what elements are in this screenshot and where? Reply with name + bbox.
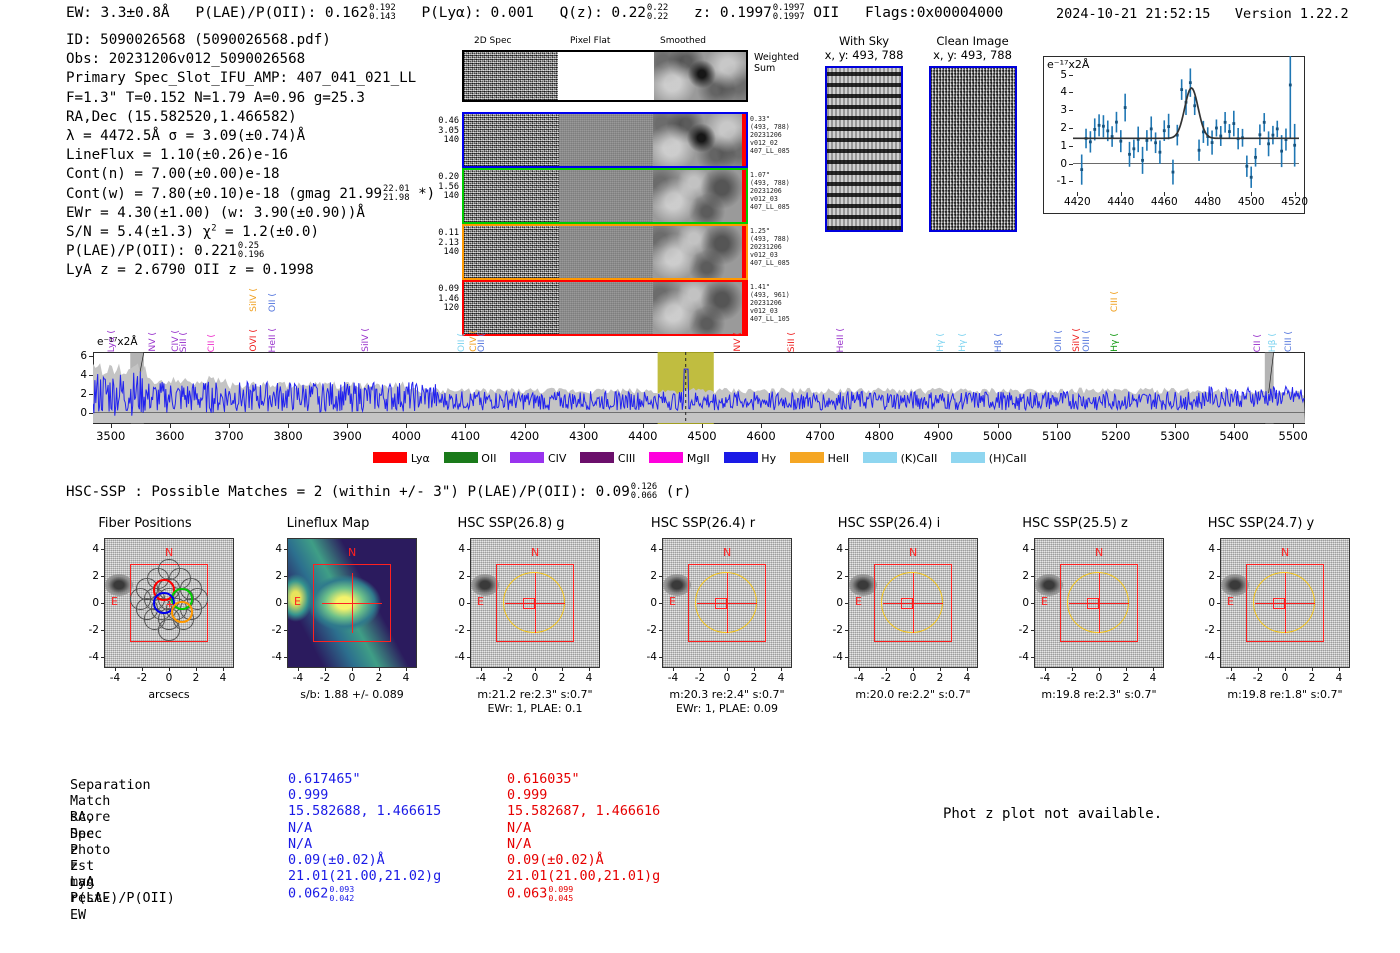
header-plae-label: P(LAE)/P(OII): xyxy=(195,5,316,21)
cutout-ytick: 0 xyxy=(263,597,282,609)
match-table-value-primary: 0.09(±0.02)Å xyxy=(288,853,385,869)
emplot-ytick: 2 xyxy=(1047,122,1067,134)
cutout-xtick: -4 xyxy=(293,672,303,684)
cutout-xtick: 4 xyxy=(220,672,227,684)
cutout-ytick: 0 xyxy=(1196,597,1215,609)
cutout-ytick: 2 xyxy=(1010,570,1029,582)
north-label: N xyxy=(348,546,356,559)
spectrum-xtick: 4500 xyxy=(687,429,716,443)
emplot-xtick: 4480 xyxy=(1194,196,1221,208)
cutout-caption-primary: m:21.2 re:2.3" s:0.7" xyxy=(440,688,630,702)
row-2dspec-image xyxy=(464,114,559,166)
row-smoothed-image xyxy=(653,114,746,166)
legend-swatch xyxy=(510,452,544,463)
weighted-sum-pixelflat-image xyxy=(558,52,654,100)
spec2d-row-left-labels: 0.46 3.05 140 xyxy=(438,117,459,146)
cutout-xtick: 4 xyxy=(964,672,971,684)
info-plae-pre: P(LAE)/P(OII): 0.221 xyxy=(66,243,237,259)
cutout-xtick: 4 xyxy=(403,672,410,684)
cutout-xtick: 2 xyxy=(559,672,566,684)
legend-swatch xyxy=(580,452,614,463)
cutout-ytick: -4 xyxy=(824,651,843,663)
cutout-ytick: -4 xyxy=(80,651,99,663)
emission-line-label: Hβ ( xyxy=(993,333,1004,352)
emission-line-label: SiII ( xyxy=(786,332,797,352)
timestamp: 2024-10-21 21:52:15 xyxy=(1056,6,1210,22)
legend-swatch xyxy=(863,452,897,463)
east-label: E xyxy=(855,595,862,608)
with-sky-image xyxy=(825,66,903,232)
cutout-xtick: -2 xyxy=(695,672,705,684)
spectrum-ytick: 2 xyxy=(69,388,87,400)
cutout-xtick: 0 xyxy=(349,672,356,684)
legend-item: Hy xyxy=(724,452,776,465)
cutout-ytick: 0 xyxy=(638,597,657,609)
emplot-ytick: 4 xyxy=(1047,86,1067,98)
spectrum-ytick: 0 xyxy=(69,407,87,419)
cutout-xtick: 0 xyxy=(724,672,731,684)
spectrum-xtick: 3900 xyxy=(333,429,362,443)
info-seeing-params: F=1.3" T=0.152 N=1.79 A=0.96 g=25.3 xyxy=(66,89,435,108)
legend-item: MgII xyxy=(649,452,709,465)
match-table-value-secondary: 0.0630.0990.045 xyxy=(507,885,573,903)
info-cont-n: Cont(n) = 7.00(±0.00)e-18 xyxy=(66,165,435,184)
cutout-caption-primary: m:19.8 re:1.8" s:0.7" xyxy=(1190,688,1380,702)
legend-swatch xyxy=(790,452,824,463)
north-label: N xyxy=(1095,546,1103,559)
match-table-value-secondary: 0.616035" xyxy=(507,772,580,788)
cutout-title: HSC SSP(26.4) i xyxy=(804,516,974,531)
match-table-value-secondary: N/A xyxy=(507,821,531,837)
emission-line-label: OII ( xyxy=(456,333,467,352)
crosshair-horizontal xyxy=(883,603,943,604)
cutout-xtick: 2 xyxy=(937,672,944,684)
cutout-ytick: -4 xyxy=(1196,651,1215,663)
cutout-xtick: 2 xyxy=(1309,672,1316,684)
clean-image-cutout xyxy=(929,66,1017,232)
cutout-xtick: 0 xyxy=(910,672,917,684)
row-2dspec-image xyxy=(464,226,559,278)
emplot-ytick: 3 xyxy=(1047,104,1067,116)
emission-line-label: OIII ( xyxy=(1081,330,1092,352)
header-timestamp-version: 2024-10-21 21:52:15 Version 1.22.2 xyxy=(1056,6,1349,22)
emission-line-label: Hγ ( xyxy=(935,333,946,352)
cutout-ytick: -4 xyxy=(446,651,465,663)
emission-line-label: Hβ ( xyxy=(1267,333,1278,352)
cutout-ytick: 0 xyxy=(824,597,843,609)
crosshair-horizontal xyxy=(1255,603,1315,604)
match-table-value-secondary: 21.01(21.00,21.01)g xyxy=(507,869,660,885)
legend-label: (H)CaII xyxy=(985,452,1026,465)
spec2d-row-meta: 1.25" (493, 788) 20231206 v012_03 407_LL… xyxy=(750,227,790,267)
emplot-xtick: 4440 xyxy=(1107,196,1134,208)
legend-label: (K)CaII xyxy=(897,452,937,465)
spectrum-xtick: 4400 xyxy=(628,429,657,443)
spectrum-xtick: 3600 xyxy=(155,429,184,443)
legend-label: CIII xyxy=(614,452,635,465)
cutout-ytick: -2 xyxy=(446,624,465,636)
cutout-ytick: 4 xyxy=(1010,543,1029,555)
cutout-ytick: -2 xyxy=(1010,624,1029,636)
cutout-caption-primary: s/b: 1.88 +/- 0.089 xyxy=(257,688,447,702)
header-flags: Flags:0x00004000 xyxy=(865,5,1003,21)
crosshair-horizontal xyxy=(322,603,382,604)
emplot-ytick: -1 xyxy=(1047,175,1067,187)
info-plae-lo: 0.196 xyxy=(238,250,264,260)
cutout-ytick: -4 xyxy=(638,651,657,663)
spectrum-xtick: 4000 xyxy=(392,429,421,443)
info-id: ID: 5090026568 (5090026568.pdf) xyxy=(66,31,435,50)
legend-item: OII xyxy=(444,452,497,465)
cutout-caption-primary: arcsecs xyxy=(74,688,264,702)
east-label: E xyxy=(1041,595,1048,608)
legend-swatch xyxy=(649,452,683,463)
spec2d-col-header-pixelflat: Pixel Flat xyxy=(570,36,610,46)
info-cont-w-pre: Cont(w) = 7.80(±0.10)e-18 (gmag 21.99 xyxy=(66,186,382,202)
cutout-xtick: 2 xyxy=(376,672,383,684)
cutout-xtick: -2 xyxy=(1067,672,1077,684)
legend-item: (K)CaII xyxy=(863,452,937,465)
emission-line-label: HeII ( xyxy=(267,328,278,353)
spectrum-canvas xyxy=(93,352,1305,424)
emission-line-label: Hγ ( xyxy=(957,333,968,352)
cutout-xtick: -2 xyxy=(503,672,513,684)
spec2d-row-left-labels: 0.20 1.56 140 xyxy=(438,173,459,202)
cutout-ytick: 2 xyxy=(1196,570,1215,582)
spectrum-xtick: 3500 xyxy=(96,429,125,443)
cutout-xtick: 0 xyxy=(1282,672,1289,684)
north-label: N xyxy=(723,546,731,559)
cutout-xtick: 4 xyxy=(1150,672,1157,684)
cutout-title: Fiber Positions xyxy=(60,516,230,531)
cutout-xtick: -4 xyxy=(668,672,678,684)
row-pixelflat-image xyxy=(559,170,654,222)
hsc-ssp-summary: HSC-SSP : Possible Matches = 2 (within +… xyxy=(66,483,691,501)
header-summary-line: EW: 3.3±0.8Å P(LAE)/P(OII): 0.1620.1920.… xyxy=(66,4,1003,22)
cutout-xtick: 2 xyxy=(1123,672,1130,684)
crosshair-horizontal xyxy=(1069,603,1129,604)
emission-line-label: CII ( xyxy=(206,334,217,352)
spectrum-xtick: 4900 xyxy=(924,429,953,443)
spec2d-row-meta: 0.33" (493, 788) 20231206 v012_02 407_LL… xyxy=(750,115,790,155)
detection-info-block: ID: 5090026568 (5090026568.pdf) Obs: 202… xyxy=(66,31,435,281)
emission-line-label: NV ( xyxy=(147,332,158,352)
legend-swatch xyxy=(724,452,758,463)
hsc-plae-lo: 0.066 xyxy=(631,491,657,501)
legend-swatch xyxy=(373,452,407,463)
spec2d-fiber-row: 0.20 1.56 140 1.07" (493, 788) 20231206 … xyxy=(462,168,748,224)
cutout-xtick: 0 xyxy=(1096,672,1103,684)
cutout-ytick: -4 xyxy=(1010,651,1029,663)
cutout-caption-primary: m:20.0 re:2.2" s:0.7" xyxy=(818,688,1008,702)
emplot-ytick: 0 xyxy=(1047,158,1067,170)
cutout-ytick: 2 xyxy=(638,570,657,582)
spectrum-xtick: 5000 xyxy=(983,429,1012,443)
legend-label: MgII xyxy=(683,452,709,465)
info-ewr: EWr = 4.30(±1.00) (w: 3.90(±0.90))Å xyxy=(66,204,435,223)
target-position-marker: + xyxy=(166,597,173,611)
spec2d-col-header-2dspec: 2D Spec xyxy=(474,36,511,46)
spec2d-weighted-sum-label: Weighted Sum xyxy=(754,52,799,74)
spectrum-unit-label: e⁻¹⁷x2Å xyxy=(97,336,138,348)
info-radec: RA,Dec (15.582520,1.466582) xyxy=(66,108,435,127)
cutout-ytick: -2 xyxy=(1196,624,1215,636)
cutout-ytick: 0 xyxy=(1010,597,1029,609)
emplot-xtick: 4420 xyxy=(1064,196,1091,208)
match-table-label: mag xyxy=(70,875,94,891)
row-smoothed-image xyxy=(653,170,746,222)
crosshair-horizontal xyxy=(505,603,565,604)
cutout-ytick: -2 xyxy=(80,624,99,636)
match-table-label: Separation xyxy=(70,778,151,794)
info-wavelength-sigma: λ = 4472.5Å σ = 3.09(±0.74)Å xyxy=(66,127,435,146)
emission-line-label: OIII ( xyxy=(1053,330,1064,352)
cutout-xtick: 2 xyxy=(751,672,758,684)
cutout-ytick: -2 xyxy=(824,624,843,636)
spectrum-xtick: 5200 xyxy=(1101,429,1130,443)
cutout-caption-primary: m:19.8 re:2.3" s:0.7" xyxy=(1004,688,1194,702)
row-smoothed-image xyxy=(653,226,746,278)
with-sky-panel: With Sky x, y: 493, 788 xyxy=(816,34,912,232)
info-sn-chi2: S/N = 5.4(±1.3) χ2 = 1.2(±0.0) xyxy=(66,223,435,242)
info-sn-pre: S/N = 5.4(±1.3) χ xyxy=(66,224,211,240)
cutout-xtick: 0 xyxy=(166,672,173,684)
info-plae: P(LAE)/P(OII): 0.2210.250.196 xyxy=(66,242,435,261)
legend-label: Hy xyxy=(758,452,776,465)
cutout-title: HSC SSP(25.5) z xyxy=(990,516,1160,531)
spectrum-xtick: 4600 xyxy=(746,429,775,443)
spectrum-xtick: 4700 xyxy=(806,429,835,443)
info-cont-w-post: *) xyxy=(418,186,435,202)
cutout-xtick: -2 xyxy=(137,672,147,684)
cutout-xtick: -4 xyxy=(110,672,120,684)
legend-item: CIII xyxy=(580,452,635,465)
spectrum-xtick: 3700 xyxy=(214,429,243,443)
header-z-lo: 0.1997 xyxy=(773,12,805,22)
row-pixelflat-image xyxy=(559,226,654,278)
header-plae-lo: 0.143 xyxy=(369,12,396,22)
cutout-xtick: -2 xyxy=(1253,672,1263,684)
header-qz: Q(z): 0.22 xyxy=(560,5,646,21)
emplot-xtick: 4500 xyxy=(1238,196,1265,208)
cutout-ytick: 4 xyxy=(1196,543,1215,555)
weighted-sum-2dspec-image xyxy=(464,52,558,100)
row-pixelflat-image xyxy=(559,114,654,166)
cutout-xtick: -4 xyxy=(854,672,864,684)
cutout-xtick: 4 xyxy=(586,672,593,684)
with-sky-coords: x, y: 493, 788 xyxy=(816,48,912,62)
cutout-title: HSC SSP(26.8) g xyxy=(426,516,596,531)
spectrum-legend: Lyα OII CIV CIII MgII Hy HeII (K)CaII (H… xyxy=(0,452,1400,465)
spectrum-ytick: 4 xyxy=(69,369,87,381)
spectrum-xtick: 5300 xyxy=(1160,429,1189,443)
cutout-xtick: -2 xyxy=(320,672,330,684)
cutout-title: HSC SSP(24.7) y xyxy=(1176,516,1346,531)
cutout-xtick: -2 xyxy=(881,672,891,684)
emplot-ytick: 5 xyxy=(1047,69,1067,81)
emission-line-label: Hγ ( xyxy=(1109,333,1120,352)
match-table-value-primary: 21.01(21.00,21.02)g xyxy=(288,869,441,885)
hsc-suffix: (r) xyxy=(666,484,692,500)
spec2d-row-left-labels: 0.11 2.13 140 xyxy=(438,229,459,258)
cutout-ytick: 4 xyxy=(638,543,657,555)
emplot-xtick: 4460 xyxy=(1151,196,1178,208)
full-spectrum-plot: e⁻¹⁷x2Å 0246 xyxy=(93,352,1305,424)
cutout-xtick: -4 xyxy=(476,672,486,684)
cutout-ytick: 4 xyxy=(80,543,99,555)
cutout-xtick: 4 xyxy=(778,672,785,684)
emission-line-label: NV ( xyxy=(732,332,743,352)
emplot-xtick: 4520 xyxy=(1281,196,1308,208)
north-label: N xyxy=(909,546,917,559)
cutout-title: Lineflux Map xyxy=(243,516,413,531)
crosshair-horizontal xyxy=(697,603,757,604)
match-table-value-primary: N/A xyxy=(288,821,312,837)
spectrum-xtick: 5500 xyxy=(1279,429,1308,443)
info-lineflux: LineFlux = 1.10(±0.26)e-16 xyxy=(66,146,435,165)
spec2d-col-header-smoothed: Smoothed xyxy=(660,36,706,46)
emplot-canvas xyxy=(1043,56,1305,214)
emission-line-label: HeII ( xyxy=(835,328,846,353)
match-table-value-secondary: N/A xyxy=(507,837,531,853)
match-table-label: P(LAE)/P(OII) xyxy=(70,891,175,907)
cutout-ytick: -4 xyxy=(263,651,282,663)
legend-swatch xyxy=(951,452,985,463)
cutout-ytick: -2 xyxy=(263,624,282,636)
spectrum-xtick: 5100 xyxy=(1042,429,1071,443)
cutout-ytick: 4 xyxy=(446,543,465,555)
east-label: E xyxy=(294,595,301,608)
cutout-xtick: 4 xyxy=(1336,672,1343,684)
legend-item: CIV xyxy=(510,452,566,465)
match-table-value-primary: 0.0620.0930.042 xyxy=(288,885,354,903)
header-plya: P(Lyα): 0.001 xyxy=(422,5,534,21)
header-qz-lo: 0.22 xyxy=(647,12,668,22)
match-table-value-primary: 15.582688, 1.466615 xyxy=(288,804,441,820)
weighted-sum-smoothed-image xyxy=(654,52,746,100)
cutout-xtick: 0 xyxy=(532,672,539,684)
spectrum-xtick: 4200 xyxy=(510,429,539,443)
north-label: N xyxy=(165,546,173,559)
clean-image-coords: x, y: 493, 788 xyxy=(920,48,1025,62)
info-sn-post: = 1.2(±0.0) xyxy=(217,224,320,240)
info-obs: Obs: 20231206v012_5090026568 xyxy=(66,50,435,69)
spectrum-xtick: 5400 xyxy=(1219,429,1248,443)
header-z-type: OII xyxy=(813,5,839,21)
east-label: E xyxy=(1227,595,1234,608)
version: Version 1.22.2 xyxy=(1235,6,1349,22)
spectrum-line-labels: Lyα (NV (CIV (SiII (CII (SiIV (OVI (OII … xyxy=(93,276,1305,352)
east-label: E xyxy=(669,595,676,608)
spec2d-weighted-sum-row xyxy=(462,50,748,102)
emission-line-label: OVI ( xyxy=(248,329,259,352)
emplot-ytick: 1 xyxy=(1047,140,1067,152)
legend-item: (H)CaII xyxy=(951,452,1026,465)
cutout-caption-primary: m:20.3 re:2.4" s:0.7" xyxy=(632,688,822,702)
spec2d-fiber-row: 0.11 2.13 140 1.25" (493, 788) 20231206 … xyxy=(462,224,748,280)
cutout-ytick: -2 xyxy=(638,624,657,636)
header-plae-value: 0.162 xyxy=(325,5,368,21)
cutout-caption-secondary: EWr: 1, PLAE: 0.09 xyxy=(632,702,822,716)
cutout-ytick: 2 xyxy=(446,570,465,582)
spec2d-row-meta: 1.07" (493, 788) 20231206 v012_03 407_LL… xyxy=(750,171,790,211)
row-2dspec-image xyxy=(464,170,559,222)
info-cont-w: Cont(w) = 7.80(±0.10)e-18 (gmag 21.9922.… xyxy=(66,185,435,204)
fiber-circle[interactable] xyxy=(158,619,180,641)
cutout-ytick: 2 xyxy=(824,570,843,582)
emission-line-fit-plot: e⁻¹⁷x2Å 442044404460448045004520-1012345 xyxy=(1043,56,1305,214)
cutout-ytick: 2 xyxy=(80,570,99,582)
emission-line-label: SiII ( xyxy=(178,332,189,352)
emission-line-label: SiIV ( xyxy=(360,328,371,352)
east-label: E xyxy=(111,595,118,608)
north-label: N xyxy=(531,546,539,559)
spectrum-xtick: 3800 xyxy=(273,429,302,443)
match-table-value-primary: N/A xyxy=(288,837,312,853)
match-table-value-primary: 0.617465" xyxy=(288,772,361,788)
cutout-xtick: -4 xyxy=(1226,672,1236,684)
cutout-xtick: -4 xyxy=(1040,672,1050,684)
hsc-prefix: HSC-SSP : Possible Matches = 2 (within +… xyxy=(66,484,630,500)
header-ew: EW: 3.3±0.8Å xyxy=(66,5,170,21)
cutout-ytick: 4 xyxy=(824,543,843,555)
emission-line-label: SiIV ( xyxy=(248,288,259,312)
clean-image-panel: Clean Image x, y: 493, 788 xyxy=(920,34,1025,232)
with-sky-title: With Sky xyxy=(816,34,912,48)
legend-item: Lyα xyxy=(373,452,429,465)
spec2d-fiber-row: 0.46 3.05 140 0.33" (493, 788) 20231206 … xyxy=(462,112,748,168)
cutout-caption-secondary: EWr: 1, PLAE: 0.1 xyxy=(440,702,630,716)
cutout-ytick: 4 xyxy=(263,543,282,555)
emission-line-label: CIII ( xyxy=(1109,291,1120,312)
photz-note: Phot z plot not available. xyxy=(943,806,1162,822)
clean-image-title: Clean Image xyxy=(920,34,1025,48)
highlighted-fiber-circle[interactable] xyxy=(171,601,193,623)
match-table-value-secondary: 0.999 xyxy=(507,788,547,804)
emission-line-label: CIII ( xyxy=(1283,331,1294,352)
legend-label: CIV xyxy=(544,452,566,465)
east-label: E xyxy=(477,595,484,608)
match-table-value-secondary: 0.09(±0.02)Å xyxy=(507,853,604,869)
cutout-xtick: 2 xyxy=(193,672,200,684)
emission-line-label: OII ( xyxy=(267,293,278,312)
legend-swatch xyxy=(444,452,478,463)
legend-item: HeII xyxy=(790,452,849,465)
cutout-ytick: 2 xyxy=(263,570,282,582)
spectrum-xtick: 4300 xyxy=(569,429,598,443)
spectrum-xtick: 4800 xyxy=(865,429,894,443)
spectrum-xtick: 4100 xyxy=(451,429,480,443)
header-z: z: 0.1997 xyxy=(694,5,772,21)
spectrum-ytick: 6 xyxy=(69,350,87,362)
cutout-ytick: 0 xyxy=(446,597,465,609)
match-table-value-secondary: 15.582687, 1.466616 xyxy=(507,804,660,820)
cutout-ytick: 0 xyxy=(80,597,99,609)
emission-line-label: CII ( xyxy=(1252,334,1263,352)
north-label: N xyxy=(1281,546,1289,559)
match-table-value-primary: 0.999 xyxy=(288,788,328,804)
info-primary-spec-slot: Primary Spec_Slot_IFU_AMP: 407_041_021_L… xyxy=(66,69,435,88)
legend-label: HeII xyxy=(824,452,849,465)
legend-label: Lyα xyxy=(407,452,429,465)
legend-label: OII xyxy=(478,452,497,465)
info-cont-w-lo: 21.98 xyxy=(383,193,409,203)
cutout-title: HSC SSP(26.4) r xyxy=(618,516,788,531)
emission-line-label: OII ( xyxy=(476,333,487,352)
